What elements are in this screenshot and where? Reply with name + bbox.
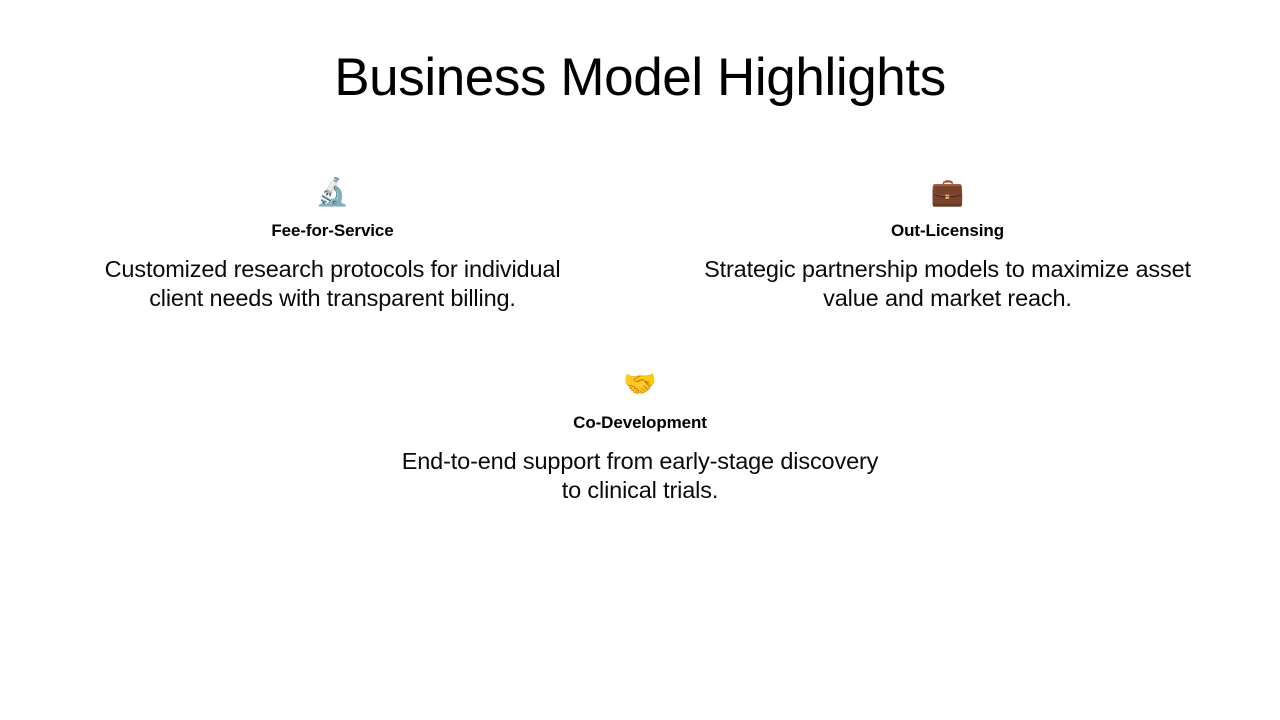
business-model-card-grid: 🔬 Fee-for-Service Customized research pr… xyxy=(0,176,1280,504)
card-fee-for-service: 🔬 Fee-for-Service Customized research pr… xyxy=(25,176,640,312)
card-heading-co-development: Co-Development xyxy=(573,412,707,434)
card-heading-fee-for-service: Fee-for-Service xyxy=(271,220,393,242)
card-body-out-licensing: Strategic partnership models to maximize… xyxy=(702,255,1193,312)
card-heading-out-licensing: Out-Licensing xyxy=(891,220,1004,242)
page-title: Business Model Highlights xyxy=(0,48,1280,109)
card-out-licensing: 💼 Out-Licensing Strategic partnership mo… xyxy=(640,176,1255,312)
briefcase-icon: 💼 xyxy=(931,176,965,210)
card-body-fee-for-service: Customized research protocols for indivi… xyxy=(87,255,578,312)
card-co-development: 🤝 Co-Development End-to-end support from… xyxy=(333,368,948,504)
slide-canvas: Business Model Highlights 🔬 Fee-for-Serv… xyxy=(0,0,1280,720)
handshake-icon: 🤝 xyxy=(623,368,657,402)
microscope-icon: 🔬 xyxy=(316,176,350,210)
card-body-co-development: End-to-end support from early-stage disc… xyxy=(395,447,886,504)
